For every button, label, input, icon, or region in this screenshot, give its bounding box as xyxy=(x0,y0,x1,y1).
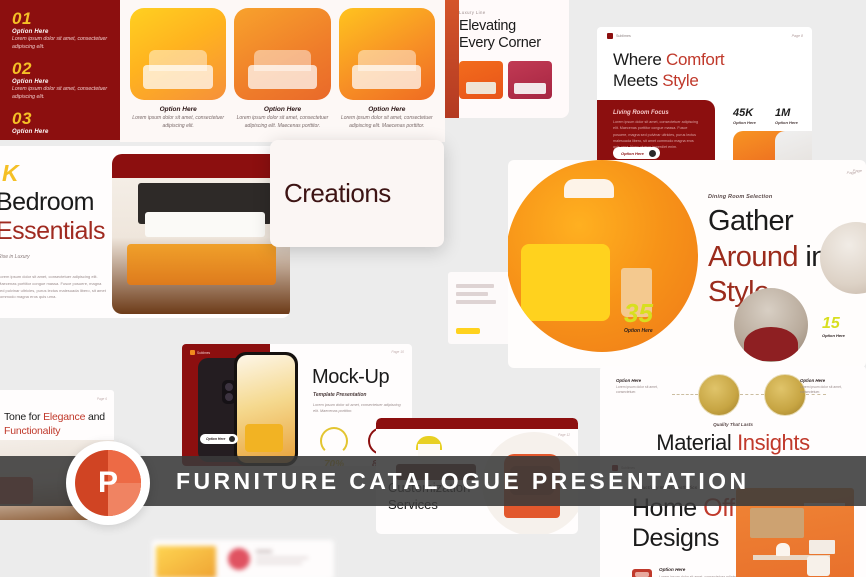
title-line-1: Bedroom xyxy=(0,188,94,216)
title-part-2: Comfort xyxy=(666,50,724,69)
room-thumbnail-image xyxy=(234,8,330,100)
title-part-2: Insights xyxy=(737,430,810,455)
brand-name: Sublimes xyxy=(197,351,210,355)
title-line-2a: Around xyxy=(708,241,798,273)
node-title: Option Here xyxy=(616,378,670,383)
card-body: Lorem ipsum dolor sit amet, consectetuer… xyxy=(339,115,435,130)
slide-budget-friendly-card[interactable] xyxy=(448,272,514,344)
stat-label: Option Here xyxy=(822,333,845,338)
page-label: Page 8 xyxy=(792,34,803,38)
slide-numbered-options[interactable]: 01 Option Here Lorem ipsum dolor sit ame… xyxy=(0,0,120,140)
option-number: 01 xyxy=(12,10,120,27)
thumbnail-row xyxy=(459,61,569,99)
armchair-photo xyxy=(508,160,698,352)
brand-icon xyxy=(607,33,613,39)
sofa-icon xyxy=(632,569,652,577)
placeholder-lines xyxy=(456,284,514,304)
option-body: Lorem ipsum dolor sit amet, consectetuer… xyxy=(12,86,120,102)
slide-eyebrow: Quality That Lasts xyxy=(600,422,866,427)
node-body: Lorem ipsum dolor sit amet, consectetuer… xyxy=(800,385,854,396)
title-part-3: Designs xyxy=(632,524,719,552)
option-card[interactable]: Option Here Lorem ipsum dolor sit amet, … xyxy=(130,8,226,130)
node-body: Lorem ipsum dolor sit amet, consectetuer… xyxy=(616,385,670,396)
arrow-icon xyxy=(229,436,235,442)
node-title: Option Here xyxy=(800,378,854,383)
option-label: Option Here xyxy=(12,129,49,135)
option-number: 03 xyxy=(12,110,49,127)
title-part-2: Elegance xyxy=(43,411,85,423)
title-part-3: and xyxy=(85,411,105,423)
option-label: Option Here xyxy=(12,29,120,35)
slide-bedroom-essentials[interactable]: K Bedroom Essentials Rise in Luxury Lore… xyxy=(0,146,290,318)
option-here-button[interactable]: Option Here xyxy=(200,434,238,444)
room-photo-circle xyxy=(820,222,866,294)
stat-block: 1M Option Here xyxy=(775,107,812,167)
slide-subtitle: Template Presentation xyxy=(313,392,412,398)
slide-top-bar xyxy=(376,418,578,429)
slide-title: Mock-Up xyxy=(312,366,412,389)
progress-ring-icon xyxy=(320,427,348,455)
cta-button[interactable] xyxy=(456,328,480,334)
brand-icon xyxy=(190,350,195,355)
option-here-button[interactable]: Option Here xyxy=(613,147,660,159)
button-label: Option Here xyxy=(621,151,644,156)
title-part-4: Style xyxy=(662,71,698,90)
title-line-1: Gather xyxy=(708,205,793,237)
brand-name: Sublimes xyxy=(616,34,631,38)
slide-elevating-every-corner[interactable]: Luxury Line Elevating Every Corner xyxy=(445,0,569,118)
room-thumbnail-image xyxy=(339,8,435,100)
panel-title: Living Room Focus xyxy=(613,110,715,116)
stat-big-value: K xyxy=(2,160,19,187)
decor-strip xyxy=(445,0,459,118)
option-number: 02 xyxy=(12,60,120,77)
title-line-1: Elevating xyxy=(459,18,516,34)
slide-title: Creations xyxy=(284,178,444,209)
slide-gather-around-in-style[interactable]: Page Dining Room Selection Gather Around… xyxy=(508,160,866,368)
stat-value: 35 xyxy=(624,300,653,326)
stat-block: 15 Option Here xyxy=(822,316,845,338)
page-label: Page 10 xyxy=(391,350,404,354)
title-line-2: Essentials xyxy=(0,217,105,245)
slide-body: Lorem ipsum dolor sit amet, consectetuer… xyxy=(0,274,108,301)
card-title: Option Here xyxy=(339,106,435,113)
slide-title: Elevating Every Corner xyxy=(459,18,569,51)
living-room-focus-panel: Living Room Focus Lorem ipsum dolor sit … xyxy=(597,100,715,167)
slide-option-cards[interactable]: Option Here Lorem ipsum dolor sit amet, … xyxy=(120,0,445,142)
bedroom-photo: Page 8 xyxy=(112,154,290,314)
slide-creations[interactable]: Creations xyxy=(270,140,444,247)
slide-title: Where Comfort Meets Style xyxy=(613,49,812,92)
option-card-row: Option Here Lorem ipsum dolor sit amet, … xyxy=(120,0,445,130)
card-title: Option Here xyxy=(130,106,226,113)
slide-where-comfort-meets-style[interactable]: Sublimes Page 8 Where Comfort Meets Styl… xyxy=(597,27,812,167)
room-thumbnail-image xyxy=(508,61,552,99)
material-node-image xyxy=(698,374,740,416)
stat-value: 15 xyxy=(822,316,845,332)
stat-label: Option Here xyxy=(624,328,653,334)
phone-front-mockup xyxy=(234,352,298,466)
brand-mark: Sublimes xyxy=(607,33,812,39)
card-body: Lorem ipsum dolor sit amet, consectetuer… xyxy=(234,115,330,130)
page-label: Page xyxy=(853,168,862,173)
powerpoint-logo-icon: P xyxy=(66,441,150,525)
slide-title: Bedroom Essentials xyxy=(0,188,105,246)
arrow-icon xyxy=(649,150,656,157)
page-label: Page 6 xyxy=(97,397,107,401)
option-card[interactable]: Option Here Lorem ipsum dolor sit amet, … xyxy=(339,8,435,130)
node-label: Option Here Lorem ipsum dolor sit amet, … xyxy=(800,378,854,396)
slide-title: Material Insights xyxy=(600,430,866,456)
title-line-2: Every Corner xyxy=(459,35,541,51)
banner-title: FURNITURE CATALOGUE PRESENTATION xyxy=(176,468,749,495)
title-part-4: Functionality xyxy=(4,425,60,437)
card-body: Lorem ipsum dolor sit amet, consectetuer… xyxy=(130,115,226,130)
option-card[interactable]: Option Here Lorem ipsum dolor sit amet, … xyxy=(234,8,330,130)
option-body: Lorem ipsum dolor sit amet, consectetuer… xyxy=(12,36,120,52)
stat-label: Option Here xyxy=(775,120,812,125)
room-thumbnail-image xyxy=(459,61,503,99)
option-label: Option Here xyxy=(12,79,120,85)
brand-mark: Sublimes xyxy=(190,350,210,355)
title-part-1: Where xyxy=(613,50,666,69)
slide-body: Lorem ipsum dolor sit amet, consectetuer… xyxy=(313,402,402,414)
panel-body: Lorem ipsum dolor sit amet, consectetuer… xyxy=(613,119,701,150)
page-label: Page 12 xyxy=(558,433,570,437)
logo-letter: P xyxy=(98,468,118,498)
dining-table-photo xyxy=(734,288,808,362)
slide-subtitle: Rise in Luxury xyxy=(0,254,30,260)
title-part-1: Tone for xyxy=(4,411,43,423)
slide-eyebrow: Luxury Line xyxy=(459,10,569,15)
slide-blurred-preview xyxy=(152,540,334,577)
button-label: Option Here xyxy=(206,437,225,441)
card-title: Option Here xyxy=(234,106,330,113)
slide-title: Tone for Elegance and Functionality xyxy=(4,410,114,438)
stat-block: 35 Option Here xyxy=(624,300,653,334)
slide-eyebrow: Dining Room Selection xyxy=(708,194,772,200)
node-label: Option Here Lorem ipsum dolor sit amet, … xyxy=(616,378,670,396)
slide-collage-canvas: 01 Option Here Lorem ipsum dolor sit ame… xyxy=(0,0,866,577)
stat-value: 1M xyxy=(775,107,812,119)
room-thumbnail-image xyxy=(130,8,226,100)
title-part-3: Meets xyxy=(613,71,662,90)
title-part-1: Material xyxy=(656,430,737,455)
